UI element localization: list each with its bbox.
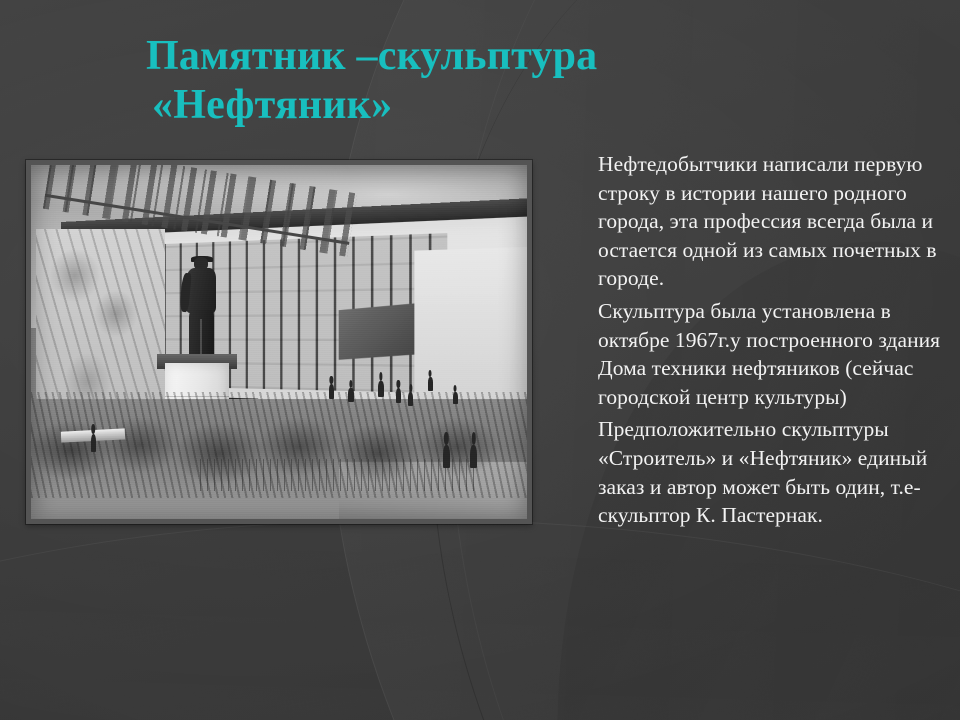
slide-title-line-1: Памятник –скульптура: [146, 32, 846, 81]
slide-title: Памятник –скульптура «Нефтяник»: [146, 32, 846, 129]
body-paragraph-2: Скульптура была установлена в октябре 19…: [598, 297, 944, 411]
body-text-block: Нефтедобытчики написали первую строку в …: [598, 150, 944, 530]
body-paragraph-1: Нефтедобытчики написали первую строку в …: [598, 150, 944, 293]
photo-inner-shadow: [31, 165, 527, 519]
photo-frame: [26, 160, 532, 524]
slide-title-line-2: «Нефтяник»: [146, 81, 846, 130]
presentation-slide: Памятник –скульптура «Нефтяник»: [0, 0, 960, 720]
body-paragraph-3: Предположительно скульптуры «Строитель» …: [598, 415, 944, 529]
monument-photograph: [31, 165, 527, 519]
